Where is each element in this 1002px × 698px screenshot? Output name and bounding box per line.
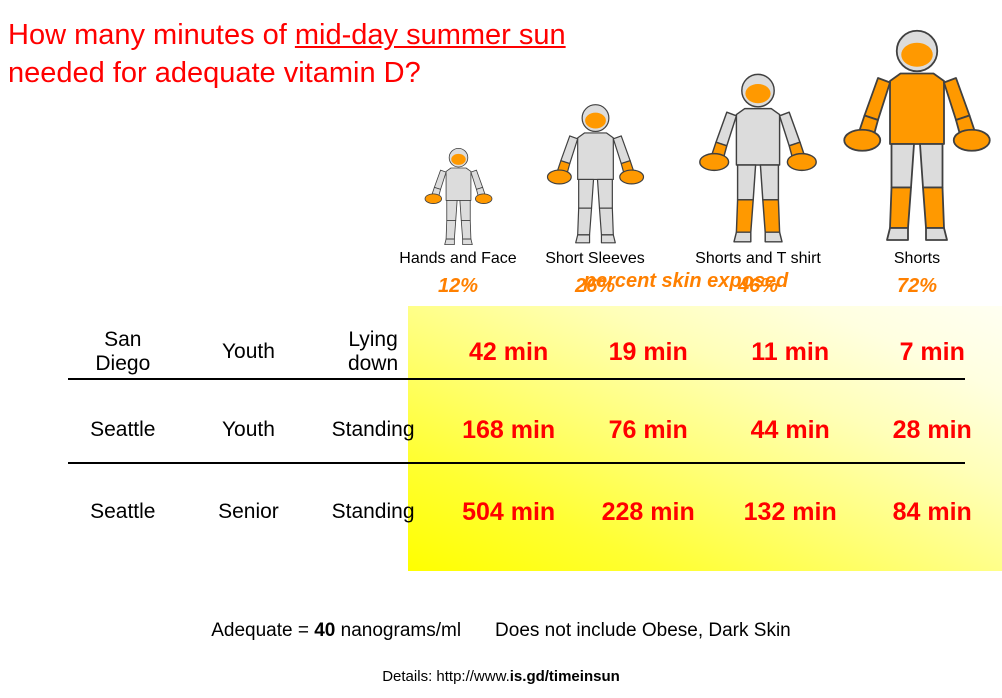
- title-line2: needed for adequate vitamin D?: [8, 57, 421, 89]
- cell-age-group: Senior: [194, 500, 304, 524]
- person-icon: [842, 24, 992, 249]
- cell-minutes: 28 min: [862, 416, 1002, 445]
- row-separator: [68, 378, 965, 380]
- table-row: SeattleYouthStanding168 min76 min44 min2…: [0, 402, 1002, 458]
- adequate-label-post: nanograms/ml: [335, 620, 461, 641]
- cell-age-group: Youth: [194, 418, 304, 442]
- adequate-label-pre: Adequate =: [211, 620, 314, 641]
- exclusion-note: Does not include Obese, Dark Skin: [495, 620, 791, 641]
- cell-posture: Standing: [317, 418, 429, 442]
- row-separator: [68, 462, 965, 464]
- table-row: San DiegoYouthLying down42 min19 min11 m…: [0, 324, 1002, 380]
- figure-label: Shorts: [802, 250, 1002, 268]
- cell-minutes: 168 min: [439, 416, 579, 445]
- person-icon: [698, 69, 818, 249]
- title-line1-plain: How many minutes of: [8, 19, 295, 51]
- details-line: Details: http://www.is.gd/timeinsun: [0, 668, 1002, 685]
- footnote: Adequate = 40 nanograms/mlDoes not inclu…: [0, 620, 1002, 642]
- cell-minutes: 19 min: [578, 338, 718, 367]
- figure-row: Hands and Face12% Short Sleeves26%: [390, 18, 1002, 298]
- cell-location: Seattle: [68, 418, 178, 442]
- cell-posture: Standing: [317, 500, 429, 524]
- table-row: SeattleSeniorStanding504 min228 min132 m…: [0, 484, 1002, 540]
- person-icon: [546, 100, 645, 249]
- cell-location: San Diego: [68, 328, 178, 376]
- figure-column-4: Shorts72%: [802, 24, 1002, 298]
- cell-minutes: 132 min: [718, 498, 863, 527]
- cell-age-group: Youth: [194, 340, 304, 364]
- cell-minutes: 7 min: [862, 338, 1002, 367]
- details-prefix: Details: http://www.: [382, 668, 510, 685]
- adequate-value: 40: [314, 620, 335, 641]
- cell-minutes: 504 min: [439, 498, 579, 527]
- cell-minutes: 11 min: [718, 338, 863, 367]
- cell-minutes: 84 min: [862, 498, 1002, 527]
- data-table: San DiegoYouthLying down42 min19 min11 m…: [0, 306, 1002, 571]
- cell-minutes: 44 min: [718, 416, 863, 445]
- skin-exposed-caption: percent skin exposed: [476, 270, 896, 293]
- details-url[interactable]: is.gd/timeinsun: [510, 668, 620, 685]
- cell-minutes: 76 min: [578, 416, 718, 445]
- cell-location: Seattle: [68, 500, 178, 524]
- cell-minutes: 42 min: [439, 338, 579, 367]
- cell-posture: Lying down: [317, 328, 429, 376]
- cell-minutes: 228 min: [578, 498, 718, 527]
